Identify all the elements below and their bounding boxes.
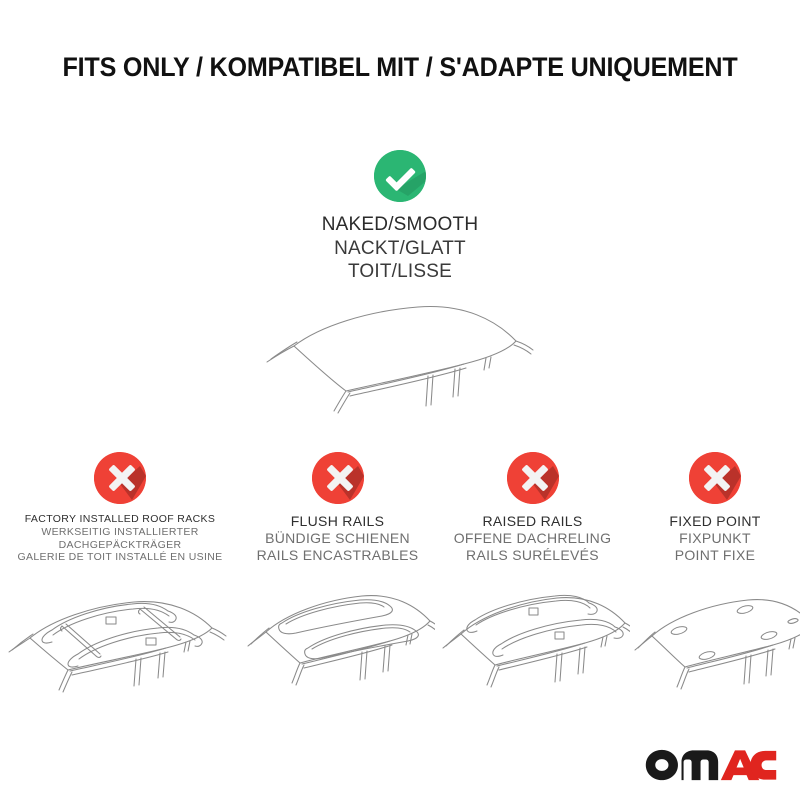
cross-icon	[94, 452, 146, 504]
incompatible-labels: FLUSH RAILS BÜNDIGE SCHIENEN RAILS ENCAS…	[253, 513, 423, 564]
incompatible-labels: RAISED RAILS OFFENE DACHRELING RAILS SUR…	[450, 513, 616, 564]
label-line-1: FACTORY INSTALLED ROOF RACKS	[17, 513, 222, 526]
car-roof-fixed-point-illustration	[630, 576, 800, 726]
cross-icon	[312, 452, 364, 504]
compatible-label-fr: TOIT/LISSE	[322, 260, 479, 284]
incompatible-section: FACTORY INSTALLED ROOF RACKS WERKSEITIG …	[0, 452, 800, 726]
check-icon	[374, 150, 426, 202]
logo-letter-m	[682, 750, 719, 780]
incompatible-item-raised-rails: RAISED RAILS OFFENE DACHRELING RAILS SUR…	[435, 452, 630, 726]
label-line-4: GALERIE DE TOIT INSTALLÉ EN USINE	[17, 551, 222, 564]
compatible-labels: NAKED/SMOOTH NACKT/GLATT TOIT/LISSE	[322, 213, 479, 284]
incompatible-item-flush-rails: FLUSH RAILS BÜNDIGE SCHIENEN RAILS ENCAS…	[240, 452, 435, 726]
logo-letter-c	[750, 751, 776, 780]
cross-icon	[689, 452, 741, 504]
label-line-1: FIXED POINT	[669, 513, 760, 530]
label-line-3: RAILS SURÉLEVÉS	[454, 547, 612, 564]
incompatible-labels: FIXED POINT FIXPUNKT POINT FIXE	[665, 513, 764, 564]
logo-letter-o	[646, 750, 678, 780]
label-line-2: WERKSEITIG INSTALLIERTER	[17, 526, 222, 539]
car-roof-naked-smooth-illustration	[250, 298, 550, 423]
page-title: FITS ONLY / KOMPATIBEL MIT / S'ADAPTE UN…	[28, 52, 772, 83]
incompatible-item-fixed-point: FIXED POINT FIXPUNKT POINT FIXE	[630, 452, 800, 726]
incompatible-item-factory-installed-roof-racks: FACTORY INSTALLED ROOF RACKS WERKSEITIG …	[0, 452, 240, 726]
label-line-2: BÜNDIGE SCHIENEN	[257, 530, 419, 547]
car-roof-raised-rails-illustration	[435, 576, 630, 726]
cross-icon	[507, 452, 559, 504]
label-line-2: OFFENE DACHRELING	[454, 530, 612, 547]
label-line-3: POINT FIXE	[669, 547, 760, 564]
incompatible-labels: FACTORY INSTALLED ROOF RACKS WERKSEITIG …	[13, 513, 226, 564]
car-roof-flush-rails-illustration	[240, 576, 435, 726]
compatible-label-de: NACKT/GLATT	[322, 237, 479, 261]
omac-logo	[644, 748, 778, 782]
label-line-3: RAILS ENCASTRABLES	[257, 547, 419, 564]
label-line-3: DACHGEPÄCKTRÄGER	[17, 539, 222, 552]
car-roof-factory-rack-illustration	[0, 576, 240, 726]
label-line-2: FIXPUNKT	[669, 530, 760, 547]
label-line-1: RAISED RAILS	[454, 513, 612, 530]
label-line-1: FLUSH RAILS	[257, 513, 419, 530]
compatible-section: NAKED/SMOOTH NACKT/GLATT TOIT/LISSE	[0, 150, 800, 423]
compatible-label-en: NAKED/SMOOTH	[322, 213, 479, 237]
